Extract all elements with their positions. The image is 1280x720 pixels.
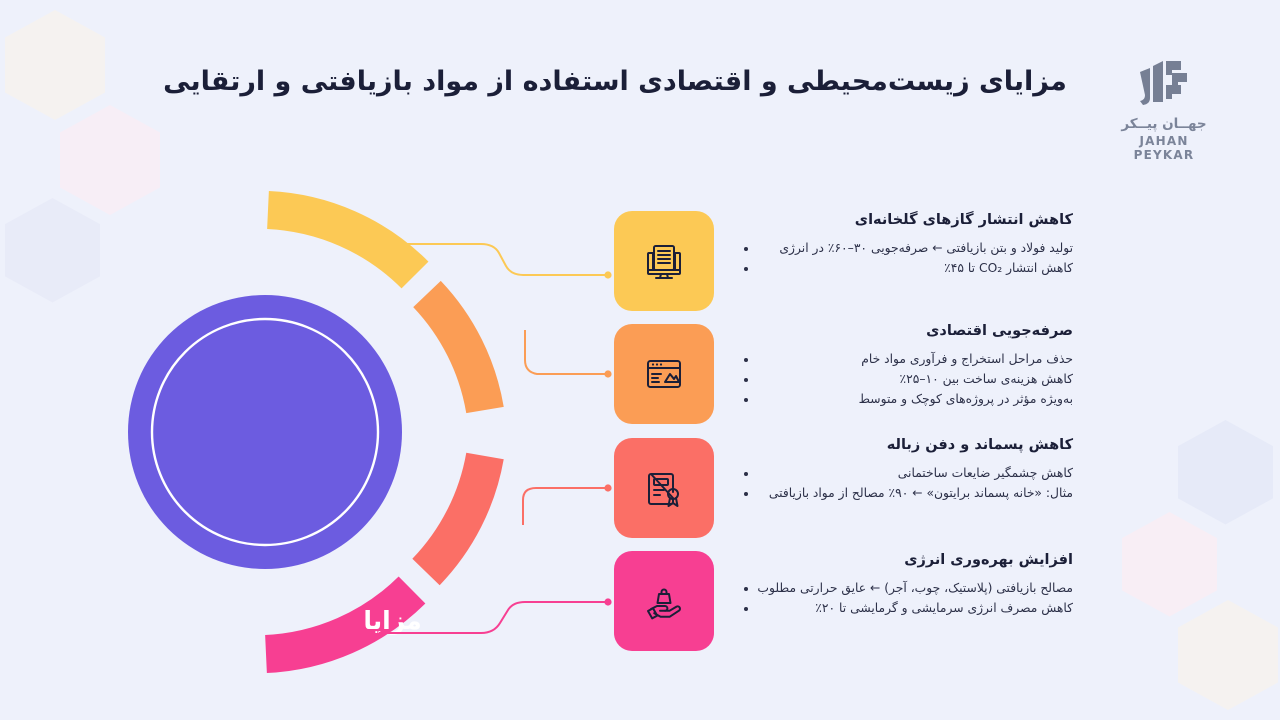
connector-dot-greenhouse-gas xyxy=(604,271,611,278)
page-title: مزایای زیست‌محیطی و اقتصادی استفاده از م… xyxy=(150,62,1080,103)
arc-segment-economic-saving xyxy=(427,294,485,410)
decorative-hexagon xyxy=(5,198,100,303)
text-block-energy-efficiency: افزایش بهره‌وری انرژی مصالح بازیافتی (پل… xyxy=(743,551,1073,619)
core-circle xyxy=(128,295,402,569)
bullet-item: کاهش هزینه‌ی ساخت بین ۱۰–۲۵٪ xyxy=(743,370,1073,389)
arc-segment-energy-efficiency xyxy=(266,590,412,654)
section-bullet-list: کاهش چشمگیر ضایعات ساختمانی مثال: «خانه … xyxy=(743,464,1073,503)
icon-card-waste-reduction[interactable] xyxy=(614,438,714,538)
text-block-economic-saving: صرفه‌جویی اقتصادی حذف مراحل استخراج و فر… xyxy=(743,322,1073,410)
text-block-waste-reduction: کاهش پسماند و دفن زباله کاهش چشمگیر ضایع… xyxy=(743,436,1073,504)
logo-name-fa: جهــان پیــکر xyxy=(1108,116,1220,132)
logo-mark-icon xyxy=(1132,58,1196,110)
section-title: کاهش انتشار گازهای گلخانه‌ای xyxy=(743,211,1073,230)
arc-segment-greenhouse-gas xyxy=(268,210,415,275)
section-title: افزایش بهره‌وری انرژی xyxy=(743,551,1073,570)
slide-canvas: مزایای زیست‌محیطی و اقتصادی استفاده از م… xyxy=(0,0,1280,720)
bullet-item: کاهش انتشار CO₂ تا ۴۵٪ xyxy=(743,259,1073,278)
decorative-hexagon xyxy=(1178,600,1278,710)
section-bullet-list: حذف مراحل استخراج و فرآوری مواد خام کاهش… xyxy=(743,350,1073,409)
bullet-item: کاهش چشمگیر ضایعات ساختمانی xyxy=(743,464,1073,483)
bullet-item: تولید فولاد و بتن بازیافتی ← صرفه‌جویی ۳… xyxy=(743,239,1073,258)
section-title: صرفه‌جویی اقتصادی xyxy=(743,322,1073,341)
browser-image-icon xyxy=(640,350,688,398)
monitor-document-icon xyxy=(640,237,688,285)
bullet-item: به‌ویژه مؤثر در پروژه‌های کوچک و متوسط xyxy=(743,390,1073,409)
text-block-greenhouse-gas: کاهش انتشار گازهای گلخانه‌ای تولید فولاد… xyxy=(743,211,1073,279)
icon-card-greenhouse-gas[interactable] xyxy=(614,211,714,311)
arc-segment-waste-reduction xyxy=(426,456,485,572)
radial-diagram-svg xyxy=(110,190,540,670)
connector-dot-waste-reduction xyxy=(604,484,611,491)
logo-name-en: JAHAN PEYKAR xyxy=(1108,134,1220,162)
icon-card-economic-saving[interactable] xyxy=(614,324,714,424)
certificate-award-icon xyxy=(640,464,688,512)
hand-holding-bag-icon xyxy=(640,577,688,625)
bullet-item: مصالح بازیافتی (پلاستیک، چوب، آجر) ← عای… xyxy=(743,579,1073,598)
decorative-hexagon xyxy=(5,10,105,120)
bullet-item: مثال: «خانه پسماند برایتون» ← ۹۰٪ مصالح … xyxy=(743,484,1073,503)
section-bullet-list: مصالح بازیافتی (پلاستیک، چوب، آجر) ← عای… xyxy=(743,579,1073,618)
section-title: کاهش پسماند و دفن زباله xyxy=(743,436,1073,455)
connector-dot-economic-saving xyxy=(604,370,611,377)
brand-logo: جهــان پیــکر JAHAN PEYKAR xyxy=(1108,58,1220,162)
section-bullet-list: تولید فولاد و بتن بازیافتی ← صرفه‌جویی ۳… xyxy=(743,239,1073,278)
page-title-text: مزایای زیست‌محیطی و اقتصادی استفاده از م… xyxy=(150,62,1080,103)
decorative-hexagon xyxy=(1122,512,1217,617)
decorative-hexagon xyxy=(1178,420,1273,525)
radial-diagram: مزایا xyxy=(120,190,540,660)
bullet-item: حذف مراحل استخراج و فرآوری مواد خام xyxy=(743,350,1073,369)
icon-card-energy-efficiency[interactable] xyxy=(614,551,714,651)
connector-dot-energy-efficiency xyxy=(604,598,611,605)
bullet-item: کاهش مصرف انرژی سرمایشی و گرمایشی تا ۲۰٪ xyxy=(743,599,1073,618)
